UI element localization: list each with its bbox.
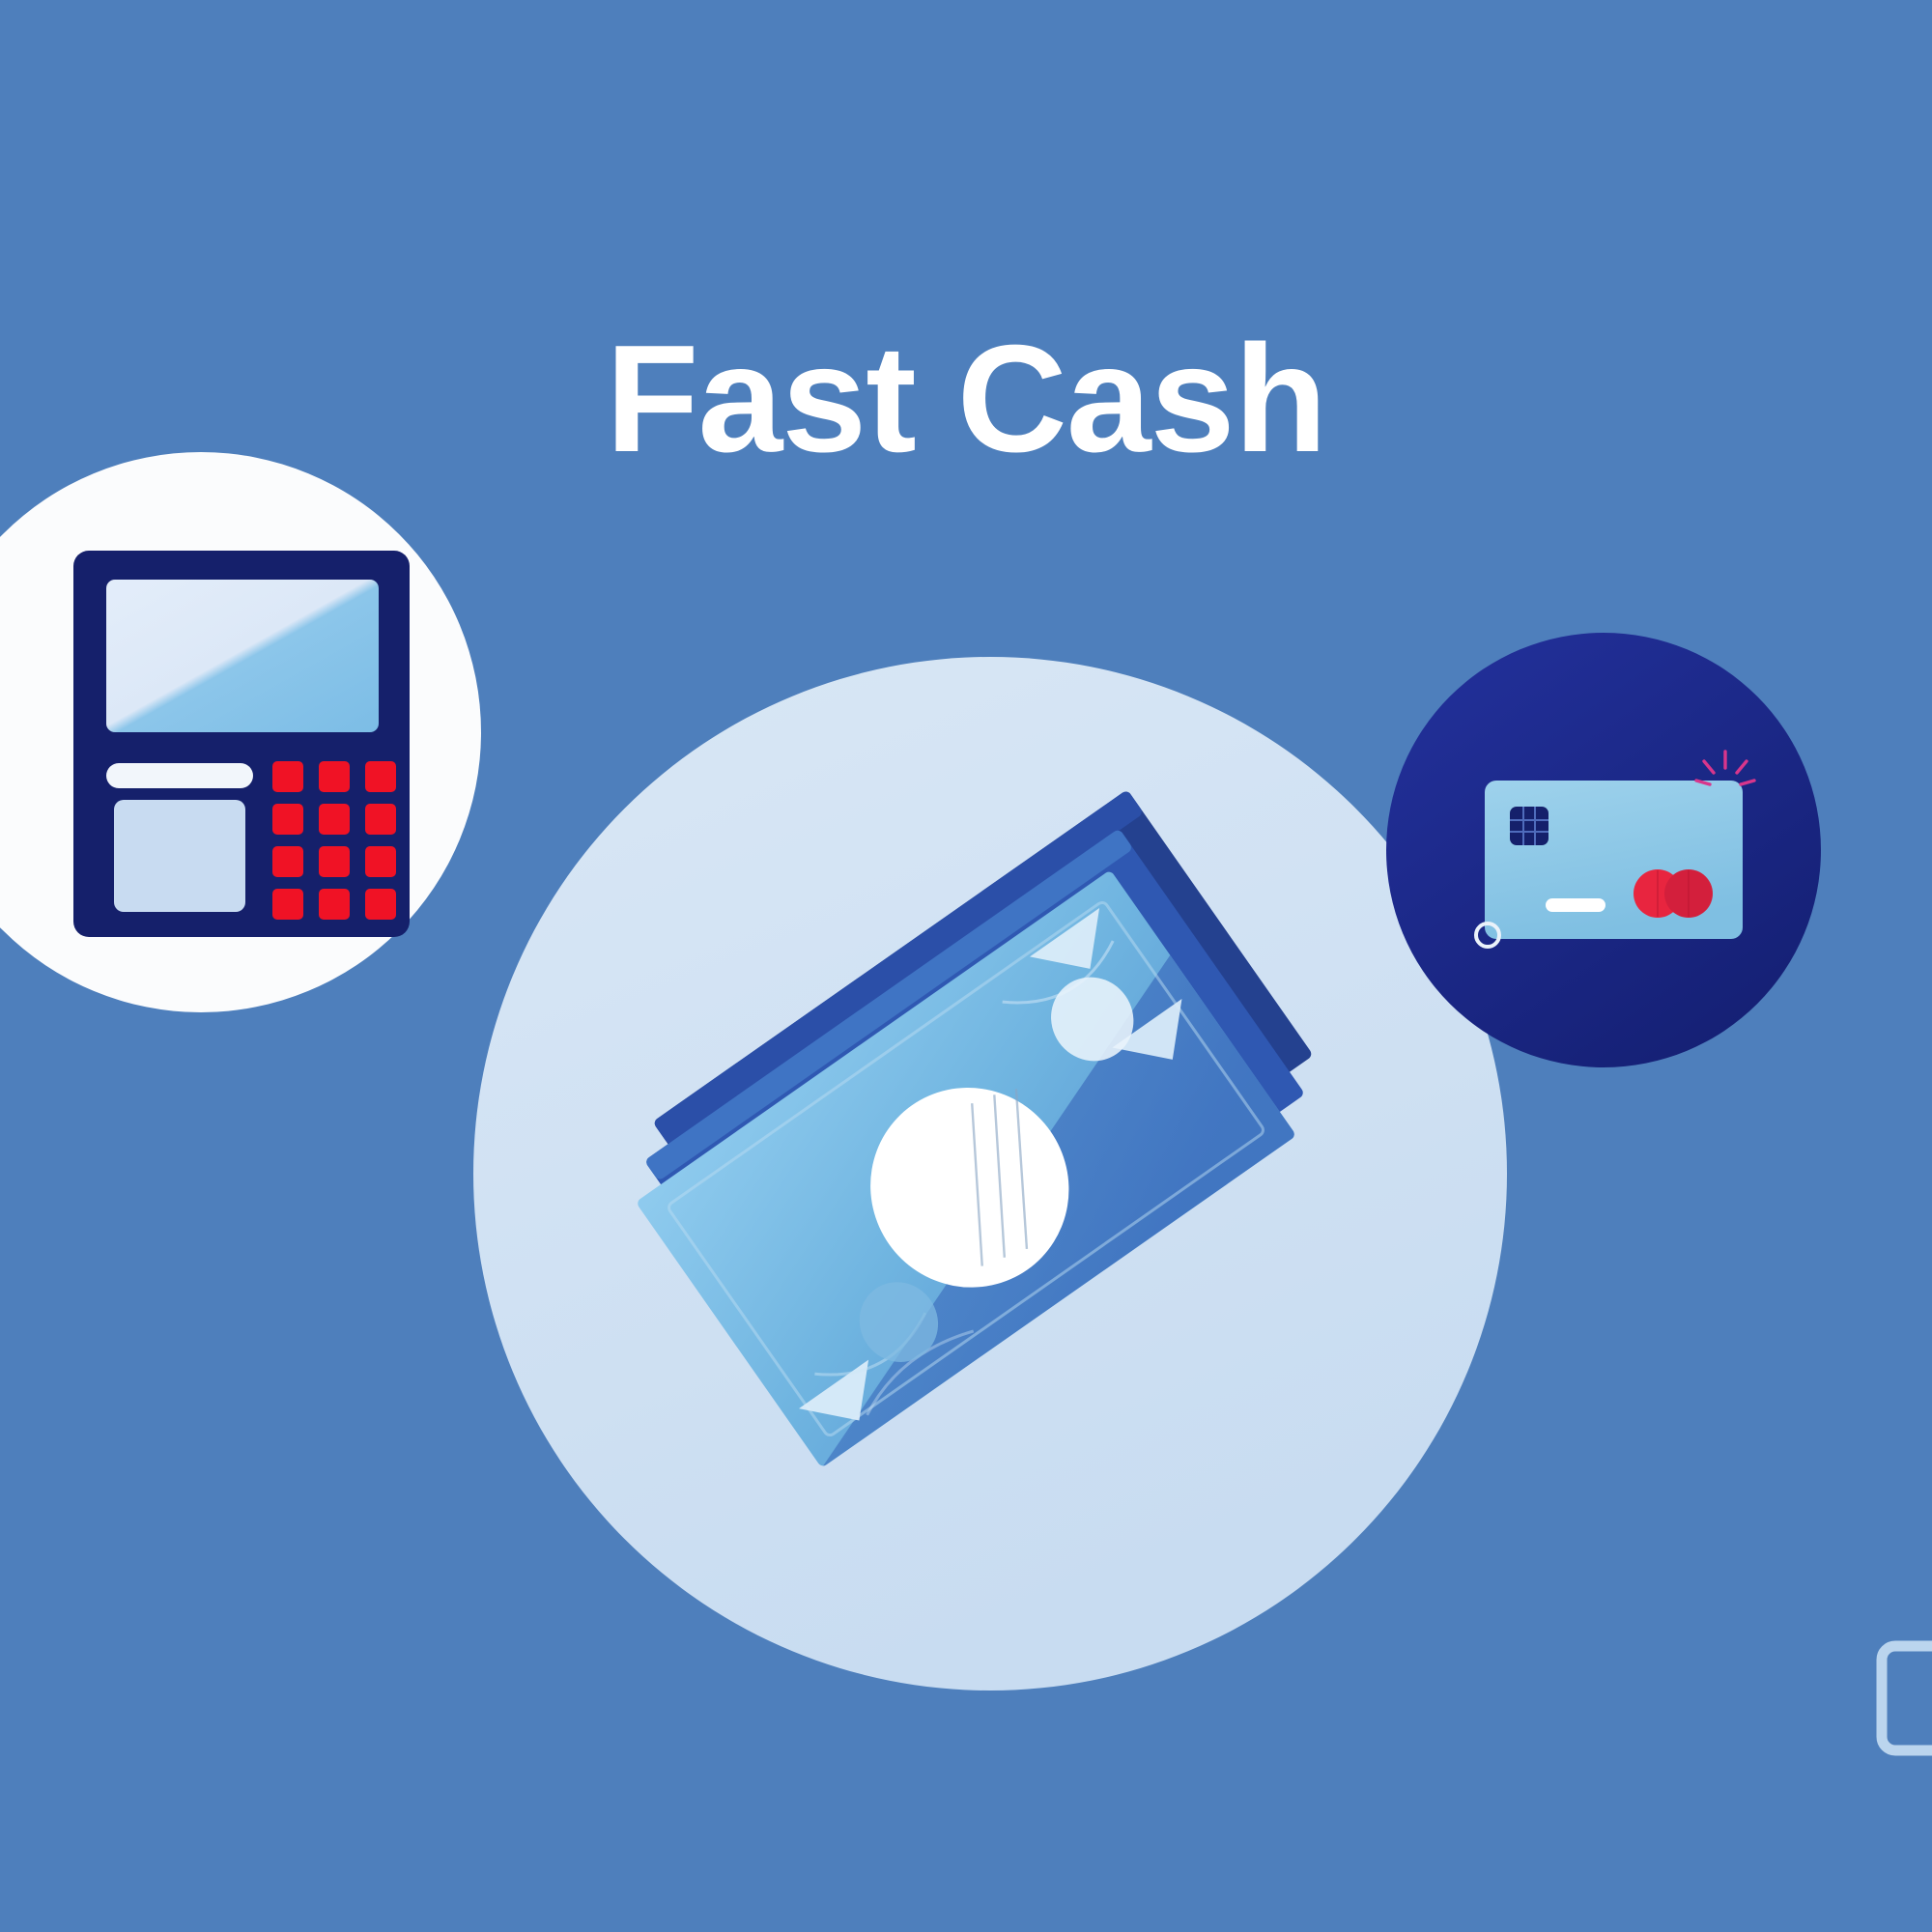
bank-card-icon: [1476, 752, 1754, 947]
keypad-key: [319, 761, 350, 792]
atm-receipt-slot: [106, 763, 253, 788]
keypad-key: [272, 761, 303, 792]
keypad-key: [365, 846, 396, 877]
keypad-key: [365, 804, 396, 835]
keypad-key: [365, 889, 396, 920]
atm-screen: [106, 580, 379, 732]
card-face: [1485, 781, 1743, 939]
card-emv-chip: [1510, 807, 1548, 845]
keypad-key: [272, 846, 303, 877]
card-name-bar: [1546, 898, 1605, 912]
keypad-key: [319, 804, 350, 835]
atm-cash-panel: [114, 800, 245, 912]
keypad-key: [319, 889, 350, 920]
keypad-key: [272, 889, 303, 920]
keypad-key: [272, 804, 303, 835]
page-title: Fast Cash: [0, 323, 1932, 475]
atm-machine-icon: [73, 551, 410, 937]
illustration-scene: Fast Cash: [0, 0, 1932, 1932]
illustration-canvas: [0, 0, 1932, 1932]
keypad-key: [365, 761, 396, 792]
keypad-key: [319, 846, 350, 877]
